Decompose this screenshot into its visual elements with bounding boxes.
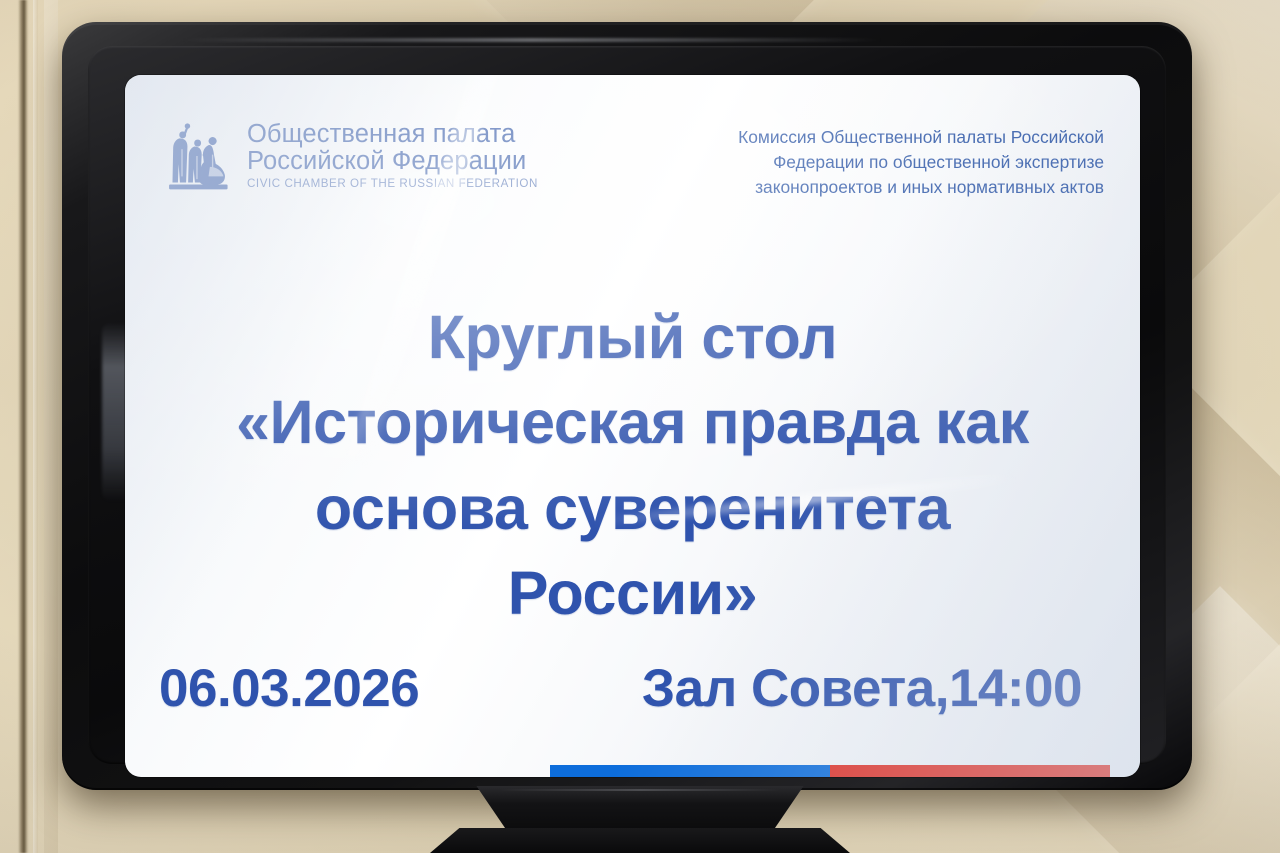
flag-stripe-blue	[550, 765, 830, 777]
civic-chamber-emblem-icon	[165, 119, 233, 193]
screenshot-root: Общественная палата Российской Федерации…	[0, 0, 1280, 853]
display-stand-highlight	[500, 789, 780, 791]
wall-seam-left	[18, 0, 29, 853]
wall-panel-strip	[44, 0, 58, 853]
display-bezel: Общественная палата Российской Федерации…	[62, 22, 1192, 790]
commission-title: Комиссия Общественной палаты Российской …	[674, 125, 1104, 201]
headline-line-4: России»	[125, 551, 1140, 636]
commission-line-3: законопроектов и иных нормативных актов	[674, 175, 1104, 200]
flag-stripe-red	[830, 765, 1110, 777]
display-screen: Общественная палата Российской Федерации…	[125, 75, 1140, 777]
display-stand-base	[430, 828, 850, 853]
headline-line-2: «Историческая правда как	[125, 380, 1140, 465]
event-headline: Круглый стол «Историческая правда как ос…	[125, 295, 1140, 637]
event-venue-time: Зал Совета,14:00	[642, 658, 1082, 719]
wall-seam-highlight	[33, 0, 38, 853]
commission-line-1: Комиссия Общественной палаты Российской	[674, 125, 1104, 150]
event-date: 06.03.2026	[159, 658, 419, 719]
headline-line-3: основа суверенитета	[125, 466, 1140, 551]
bezel-reflection-top	[182, 38, 882, 42]
display-stand-neck	[466, 786, 814, 832]
logo-line-1: Общественная палата	[247, 121, 538, 148]
headline-line-1: Круглый стол	[125, 295, 1140, 380]
logo-line-2: Российской Федерации	[247, 148, 538, 175]
logo-line-3-english: CIVIC CHAMBER OF THE RUSSIAN FEDERATION	[247, 178, 538, 190]
russian-flag-stripe	[550, 765, 1110, 777]
commission-line-2: Федерации по общественной экспертизе	[674, 150, 1104, 175]
event-footer: 06.03.2026 Зал Совета,14:00	[159, 658, 1106, 719]
logo-wordmark: Общественная палата Российской Федерации…	[247, 121, 538, 190]
slide-content: Общественная палата Российской Федерации…	[125, 75, 1140, 777]
civic-chamber-logo: Общественная палата Российской Федерации…	[165, 119, 538, 193]
